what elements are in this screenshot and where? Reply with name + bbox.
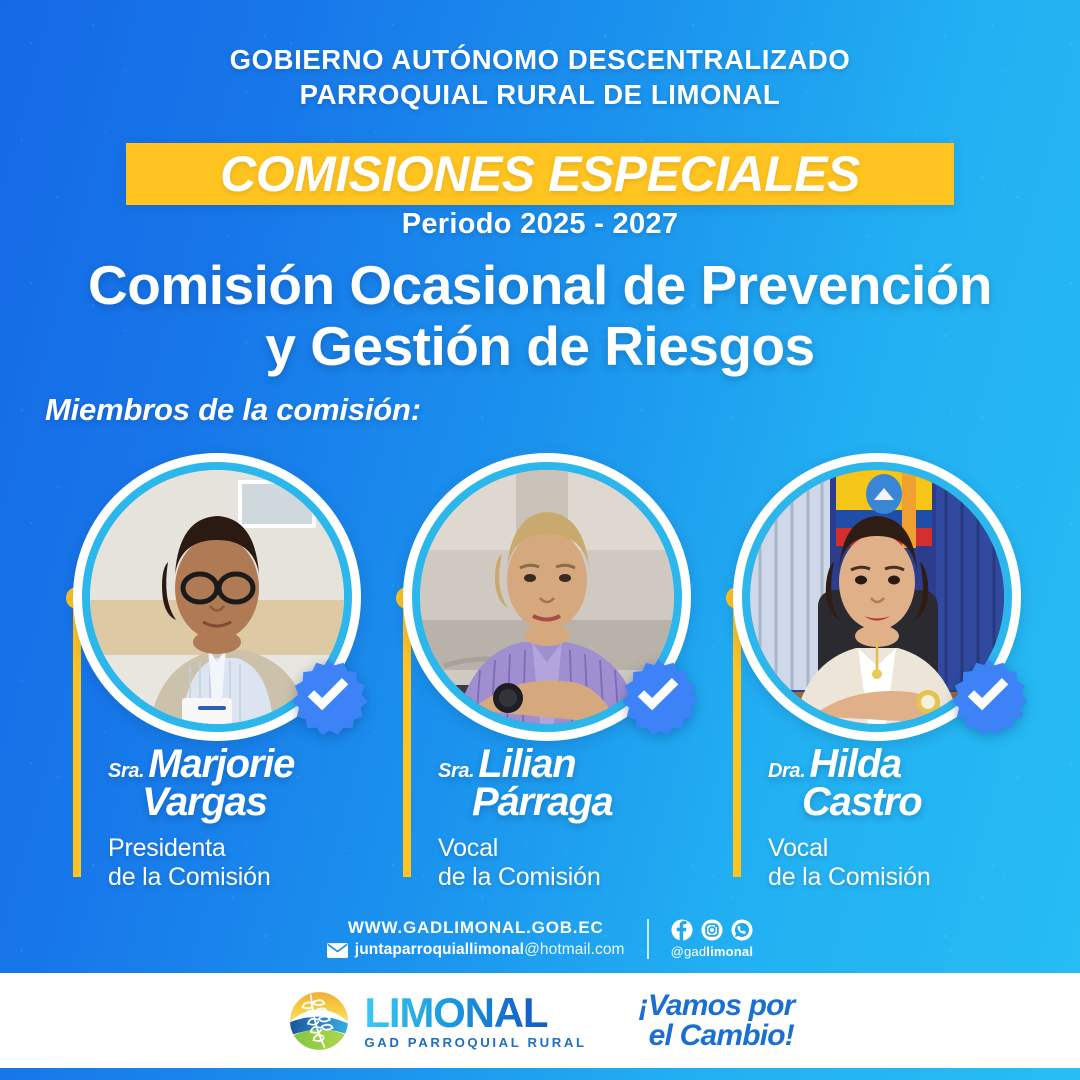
title-line-2: y Gestión de Riesgos [0,316,1080,377]
member-photo-frame [733,453,1021,741]
social-icons [671,919,754,941]
envelope-icon [327,943,348,958]
member-role-line-2: de la Comisión [438,863,718,893]
member-role-line-1: Vocal [438,834,718,864]
institution-header: GOBIERNO AUTÓNOMO DESCENTRALIZADO PARROQ… [0,42,1080,112]
contact-web-email: WWW.GADLIMONAL.GOB.EC juntaparroquiallim… [327,918,625,959]
verified-badge-icon [949,657,1027,735]
contact-bar: WWW.GADLIMONAL.GOB.EC juntaparroquiallim… [0,918,1080,959]
banner-text: COMISIONES ESPECIALES [220,145,860,203]
logo-text: LIMONAL GAD PARROQUIAL RURAL [364,992,586,1049]
limonal-emblem-icon [285,987,353,1055]
banner-word-2: ESPECIALES [548,146,860,202]
member-role: Presidenta de la Comisión [108,834,388,893]
header-line-1: GOBIERNO AUTÓNOMO DESCENTRALIZADO [0,42,1080,77]
member-role: Vocal de la Comisión [768,834,1048,893]
member-info: Dra.Hilda Castro Vocal de la Comisión [768,745,1048,893]
email-user: juntaparroquiallimonal [355,941,524,958]
title-line-1: Comisión Ocasional de Prevención [0,255,1080,316]
member-photo-frame [73,453,361,741]
member-name-line-2: Párraga [438,783,718,821]
facebook-icon[interactable] [671,919,693,941]
member-honorific: Sra. [438,760,474,782]
periodo-label: Periodo 2025 - 2027 [0,208,1080,241]
member-info: Sra.Lilian Párraga Vocal de la Comisión [438,745,718,893]
email-domain: @hotmail.com [524,941,625,958]
member-honorific: Dra. [768,760,805,782]
member-role-line-1: Presidenta [108,834,388,864]
slogan-line-2: el Cambio! [639,1021,795,1051]
member-role-line-2: de la Comisión [768,863,1048,893]
members-list: Sra.Marjorie Vargas Presidenta de la Com… [0,445,1080,895]
social-block: @gadlimonal [671,919,754,959]
banner-word-1: COMISIONES [220,146,534,202]
logo-subtitle: GAD PARROQUIAL RURAL [364,1036,586,1049]
member-name-line-2: Vargas [108,783,388,821]
header-line-2: PARROQUIAL RURAL DE LIMONAL [0,77,1080,112]
member-card: Sra.Marjorie Vargas Presidenta de la Com… [52,445,382,895]
member-photo-frame [403,453,691,741]
email-row[interactable]: juntaparroquiallimonal@hotmail.com [327,941,625,959]
logo-name: LIMONAL [364,992,586,1034]
slogan: ¡Vamos por el Cambio! [639,991,795,1051]
verified-badge-icon [619,657,697,735]
verified-badge-icon [289,657,367,735]
member-card: Sra.Lilian Párraga Vocal de la Comisión [382,445,712,895]
member-name-line-1: Dra.Hilda [768,745,1048,783]
handle-prefix: @gad [671,944,707,959]
member-honorific: Sra. [108,760,144,782]
title-banner: COMISIONES ESPECIALES [126,143,954,205]
social-handle: @gadlimonal [671,944,754,959]
member-name-line-1: Sra.Marjorie [108,745,388,783]
member-role-line-2: de la Comisión [108,863,388,893]
website-url[interactable]: WWW.GADLIMONAL.GOB.EC [327,918,625,938]
limonal-logo: LIMONAL GAD PARROQUIAL RURAL [285,987,586,1055]
handle-name: limonal [706,944,753,959]
member-name-line-1: Sra.Lilian [438,745,718,783]
member-role: Vocal de la Comisión [438,834,718,893]
member-role-line-1: Vocal [768,834,1048,864]
slogan-line-1: ¡Vamos por [639,991,795,1021]
member-card: Dra.Hilda Castro Vocal de la Comisión [712,445,1042,895]
page-title: Comisión Ocasional de Prevención y Gesti… [0,255,1080,376]
poster: GOBIERNO AUTÓNOMO DESCENTRALIZADO PARROQ… [0,0,1080,1080]
members-label: Miembros de la comisión: [45,392,421,428]
whatsapp-icon[interactable] [731,919,753,941]
member-name-line-2: Castro [768,783,1048,821]
email-address: juntaparroquiallimonal@hotmail.com [355,941,625,959]
footer-bar: LIMONAL GAD PARROQUIAL RURAL ¡Vamos por … [0,973,1080,1068]
member-info: Sra.Marjorie Vargas Presidenta de la Com… [108,745,388,893]
instagram-icon[interactable] [701,919,723,941]
contact-divider [647,919,649,959]
